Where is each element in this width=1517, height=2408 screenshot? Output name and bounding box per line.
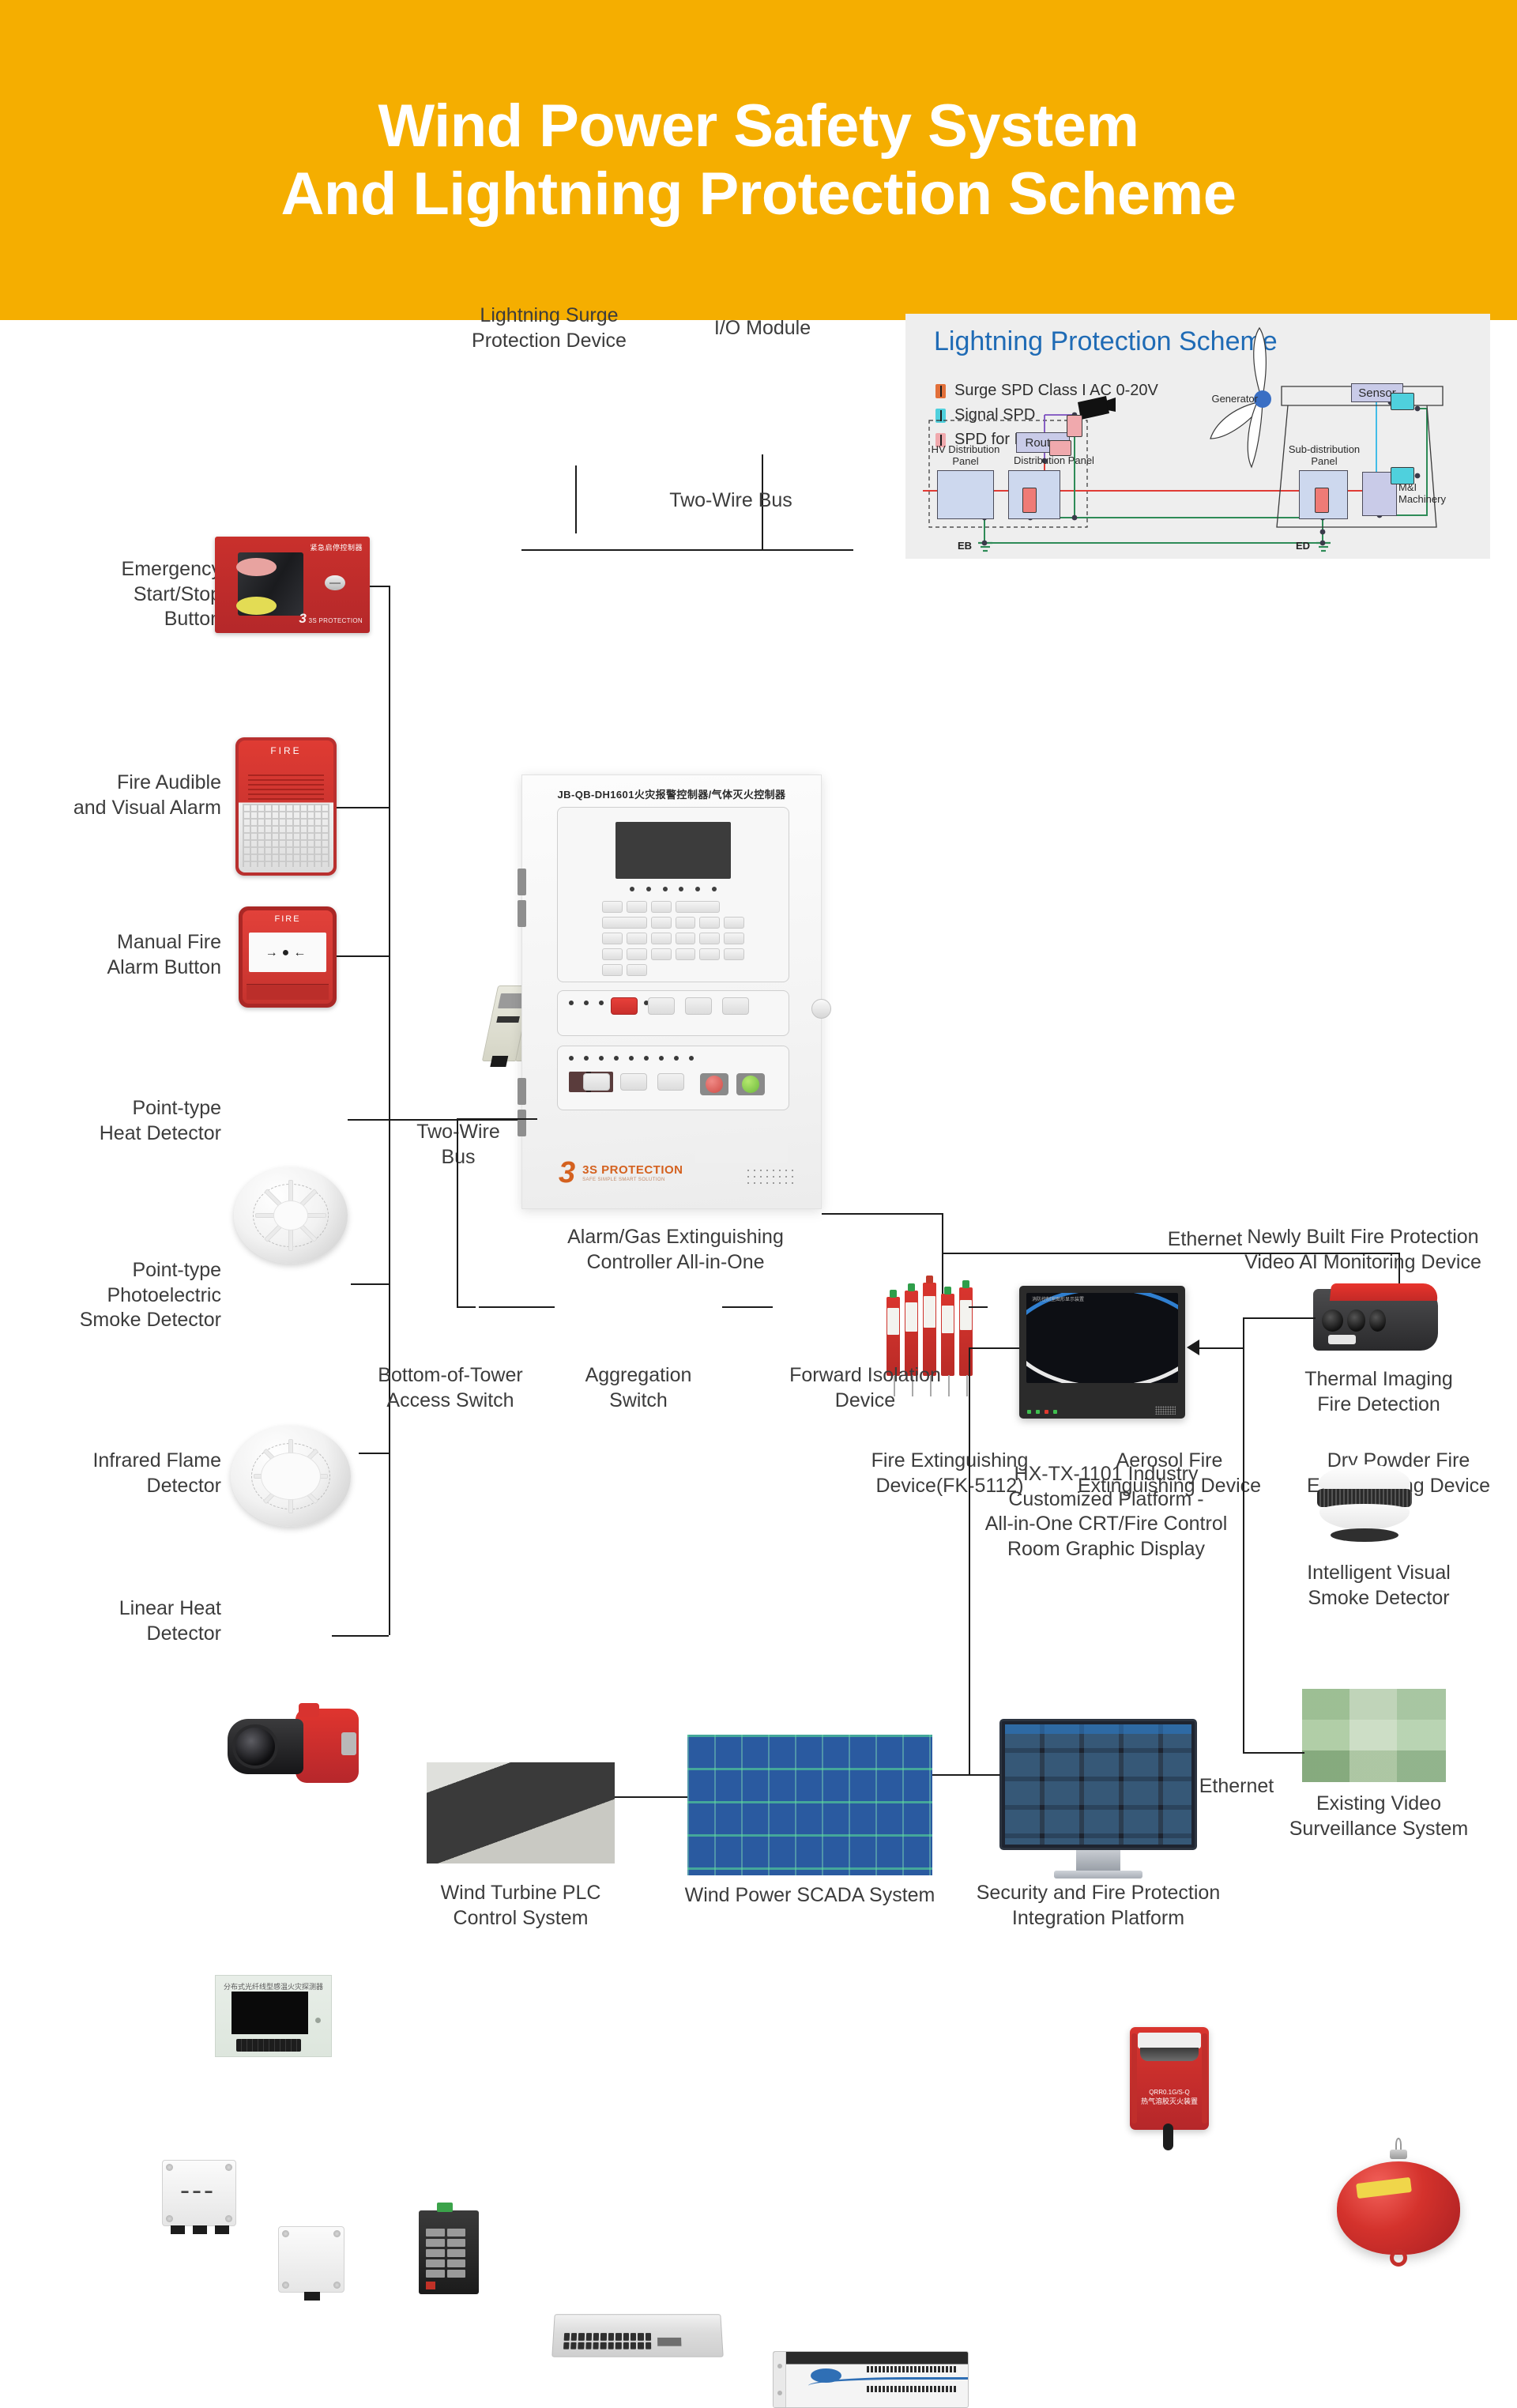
brand-name: 3S PROTECTION	[582, 1163, 683, 1177]
scada-screen[interactable]	[687, 1735, 932, 1875]
controller-to-extinguisher	[822, 1213, 942, 1215]
aerosol-top-plate	[1138, 2033, 1201, 2049]
fire-text: FIRE	[243, 914, 333, 924]
ball-warning-label	[1356, 2176, 1411, 2198]
platform-indicator-leds	[1027, 1410, 1057, 1414]
plc-cabinet-photo[interactable]	[427, 1762, 615, 1863]
video-feed-arrow-line	[1197, 1347, 1243, 1349]
aerosol-rib	[1202, 2033, 1207, 2123]
lightning-schematic	[905, 314, 1490, 559]
manual-auto-button[interactable]	[620, 1073, 647, 1091]
cabinet-hinge	[518, 1110, 526, 1136]
spd-lan-symbol-camera	[1067, 415, 1082, 437]
controller-keypad[interactable]	[602, 901, 744, 976]
lhd-screen	[232, 1992, 307, 2034]
aerosol-outlet	[1140, 2048, 1199, 2061]
controller-lower-buttons[interactable]	[583, 1073, 684, 1091]
dry-powder-ball[interactable]	[1337, 2161, 1460, 2255]
bus-branch-flame	[359, 1453, 389, 1454]
speaker-slats	[248, 774, 324, 801]
controller-lower-panel	[557, 1046, 789, 1110]
start-delay-button[interactable]	[583, 1073, 610, 1091]
label-forward-isolation-device: Forward Isolation Device	[766, 1363, 964, 1413]
monitor-base	[1054, 1871, 1142, 1879]
screw-icon	[333, 2230, 341, 2237]
switch-ports[interactable]	[563, 2333, 651, 2350]
aggregation-to-isolation	[722, 1306, 773, 1308]
thermal-branch	[1243, 1317, 1316, 1319]
stick-extinguisher-array[interactable]	[886, 1283, 973, 1376]
decor-stripe	[808, 2377, 968, 2391]
linear-heat-junction-box-2[interactable]	[278, 2226, 344, 2293]
call-point-body: FIRE →●←	[243, 910, 333, 1004]
label-wind-power-scada: Wind Power SCADA System	[664, 1883, 956, 1909]
cable-plug	[215, 2225, 229, 2234]
controller-to-switch-v	[457, 1118, 458, 1306]
surveillance-branch	[1243, 1752, 1304, 1754]
device-label-cn: 紧急启停控制器	[310, 542, 363, 552]
screw-icon	[282, 2282, 289, 2289]
label-two-wire-bus-left: Two-Wire Bus	[395, 1120, 521, 1170]
cabinet-hinge	[518, 1078, 526, 1105]
bus-branch-mcp	[337, 955, 389, 957]
video-feed-arrow-head	[1187, 1340, 1199, 1355]
label-hv-distribution-panel: HV Distribution Panel	[924, 443, 1007, 467]
screw-icon	[282, 2230, 289, 2237]
lightning-protection-panel: Lightning Protection Scheme Surge SPD Cl…	[905, 314, 1490, 559]
controller-upper-panel	[557, 807, 789, 982]
extinguisher-bus-riser	[942, 1213, 943, 1253]
silence-button[interactable]	[648, 997, 675, 1015]
switch-ports[interactable]	[426, 2229, 465, 2277]
detector-top-cover	[1319, 1464, 1410, 1492]
emergency-start-stop-controller[interactable]: 紧急启停控制器 3 3S PROTECTION	[215, 537, 370, 633]
strobe-lens	[243, 804, 329, 867]
power-terminal	[437, 2203, 453, 2212]
bus-branch-linear	[332, 1635, 389, 1637]
surge-spd-symbol-distribution	[1022, 488, 1037, 513]
flame-detector-lens	[235, 1728, 275, 1765]
aerosol-cable	[1163, 2123, 1173, 2150]
brand-mark-icon: 3	[559, 1161, 575, 1185]
emergency-stop-button[interactable]	[657, 1073, 684, 1091]
aerosol-model-text: QRR0.1G/S-Q 热气溶胶灭火装置	[1130, 2089, 1209, 2106]
call-point-window: →●←	[249, 933, 326, 972]
camera-lens	[1322, 1310, 1343, 1332]
detector-hub	[262, 1453, 320, 1499]
page-title-line-2: And Lightning Protection Scheme	[281, 160, 1237, 228]
controller-status-leds	[630, 887, 717, 891]
cable-plug	[193, 2225, 207, 2234]
controller-to-switch-h	[457, 1118, 537, 1120]
monitor-stand	[1076, 1850, 1120, 1871]
detector-sensor-face	[1331, 1528, 1398, 1542]
hv-distribution-panel-box	[937, 470, 994, 519]
label-ethernet-top: Ethernet	[1106, 1227, 1304, 1253]
press-arrows-icon: →●←	[249, 946, 326, 960]
platform-screen-caption: 消防控制室图形显示装置	[1032, 1295, 1084, 1302]
point-heat-detector[interactable]	[234, 1167, 348, 1264]
controller-lower-leds	[569, 1056, 694, 1061]
plc-to-scada	[615, 1796, 687, 1798]
label-emergency-start-stop: Emergency Start/Stop Button	[47, 557, 221, 632]
ground-label-ed: ED	[1296, 540, 1310, 552]
controller-mid-panel	[557, 990, 789, 1036]
test-button[interactable]	[685, 997, 712, 1015]
cable-gland	[341, 1732, 356, 1755]
spd-dropline	[575, 465, 577, 533]
diagram-canvas: Emergency Start/Stop Button Fire Audible…	[0, 320, 1517, 2078]
ball-hanger	[1388, 2138, 1409, 2163]
brand-mark: 3 3S PROTECTION	[299, 611, 363, 627]
detector-base-cover	[1319, 1504, 1409, 1530]
cable-plug	[171, 2225, 185, 2234]
access-to-aggregation	[479, 1306, 555, 1308]
video-wall-photo[interactable]	[1302, 1689, 1446, 1782]
bus-branch-heat	[348, 1119, 389, 1121]
cable-plug	[304, 2292, 320, 2301]
ground-label-eb: EB	[958, 540, 972, 552]
platform-speaker-grille	[1155, 1406, 1176, 1415]
page-title-line-1: Wind Power Safety System	[378, 92, 1139, 160]
emergency-stop-indicator[interactable]	[736, 1073, 765, 1095]
label-linear-heat-detector: Linear Heat Detector	[40, 1596, 221, 1646]
integration-platform-monitor[interactable]	[999, 1719, 1197, 1879]
signal-spd-symbol-sensor	[1391, 393, 1414, 410]
hx-tx-1101-platform[interactable]: 消防控制室图形显示装置	[1019, 1286, 1185, 1419]
isolation-to-platform-h	[969, 1306, 988, 1308]
signal-spd-symbol-machinery	[1391, 467, 1414, 484]
label-intelligent-visual-smoke-detector: Intelligent Visual Smoke Detector	[1264, 1561, 1493, 1611]
brand-tagline: SAFE SIMPLE SMART SOLUTION	[582, 1178, 683, 1182]
screw-icon	[166, 2164, 173, 2171]
label-lightning-surge-protection-device: Lightning Surge Protection Device	[446, 303, 652, 353]
infrared-flame-detector[interactable]	[228, 1703, 359, 1790]
visual-smoke-detector[interactable]	[1315, 1464, 1414, 1540]
label-controller-caption: Alarm/Gas Extinguishing Controller All-i…	[545, 1225, 806, 1275]
page-header: Wind Power Safety System And Lightning P…	[0, 0, 1517, 320]
bus-branch-smoke	[351, 1283, 389, 1285]
label-mi-machinery: M&I Machinery	[1398, 481, 1462, 505]
fire-sounder-strobe[interactable]: FIRE	[235, 737, 337, 876]
bus-branch-emergency	[370, 586, 389, 587]
thermal-imaging-camera[interactable]	[1313, 1289, 1438, 1351]
surge-spd-symbol-subdistribution	[1315, 488, 1329, 513]
right-column-trunk	[1243, 1317, 1244, 1752]
left-vertical-bus	[389, 586, 390, 1635]
cabinet-hinge	[518, 869, 526, 895]
alarm-gas-extinguishing-controller[interactable]: JB-QB-DH1601火灾报警控制器/气体灭火控制器	[521, 774, 822, 1209]
controller-rotary-dial[interactable]	[811, 999, 831, 1019]
label-point-heat-detector: Point-type Heat Detector	[40, 1096, 221, 1146]
monitor-screen	[1005, 1724, 1191, 1845]
flame-detector-mount	[299, 1703, 320, 1717]
aerosol-extinguisher[interactable]: QRR0.1G/S-Q 热气溶胶灭火装置	[1130, 2027, 1209, 2130]
controller-brand-logo: 3 3S PROTECTION SAFE SIMPLE SMART SOLUTI…	[559, 1161, 683, 1185]
device-label-cn: 分布式光纤线型感温火灾探测器	[216, 1981, 331, 1992]
label-generator: Generator	[1195, 393, 1258, 405]
camera-sunshield	[1330, 1283, 1439, 1301]
controller-display	[615, 822, 731, 879]
screw-icon	[225, 2215, 232, 2222]
sfp-slots[interactable]	[657, 2338, 681, 2346]
forward-isolation-device[interactable]	[773, 2351, 969, 2408]
call-point-base	[247, 984, 329, 1000]
label-aggregation-switch: Aggregation Switch	[553, 1363, 724, 1413]
monitor-bezel	[999, 1719, 1197, 1850]
aerosol-rib	[1131, 2033, 1137, 2123]
detector-hub	[274, 1201, 307, 1230]
industrial-access-switch[interactable]	[419, 2210, 479, 2294]
label-sub-distribution-panel: Sub-distribution Panel	[1277, 443, 1372, 467]
switch-uplink	[457, 1306, 476, 1308]
isolation-to-crt	[969, 1347, 1019, 1349]
reset-button[interactable]	[611, 997, 638, 1015]
rack-ear	[774, 2352, 786, 2407]
camera-ir-illuminator	[1328, 1335, 1356, 1344]
lhd-keypad[interactable]	[236, 2039, 301, 2052]
label-io-module: I/O Module	[676, 316, 849, 341]
rack-aggregation-switch[interactable]	[551, 2314, 724, 2357]
label-bottom-of-tower-access-switch: Bottom-of-Tower Access Switch	[363, 1363, 537, 1413]
stop-button[interactable]	[236, 597, 277, 615]
manual-call-point[interactable]: FIRE →●←	[239, 906, 337, 1008]
label-hx-tx-1101-platform: HX-TX-1101 Industry Customized Platform …	[984, 1462, 1229, 1562]
port-bank-top[interactable]	[867, 2366, 956, 2372]
controller-speaker-grille	[745, 1167, 794, 1186]
screw-icon	[333, 2282, 341, 2289]
linear-heat-junction-box-1[interactable]: ▬▬▬	[162, 2160, 236, 2226]
controller-mid-buttons[interactable]	[611, 997, 749, 1015]
top-bus-line	[521, 549, 853, 551]
point-smoke-detector[interactable]	[231, 1426, 351, 1527]
bus-branch-sounder	[337, 807, 389, 808]
label-fire-audible-visual-alarm: Fire Audible and Visual Alarm	[24, 771, 221, 820]
label-wind-turbine-plc: Wind Turbine PLC Control System	[417, 1881, 624, 1931]
platform-link-h	[969, 1774, 1000, 1776]
label-point-smoke-detector: Point-type Photoelectric Smoke Detector	[24, 1258, 221, 1333]
start-button[interactable]	[236, 558, 277, 576]
camera-thermal-lens	[1347, 1310, 1366, 1332]
screw-icon	[225, 2164, 232, 2171]
emergency-start-indicator[interactable]	[700, 1073, 728, 1095]
platform-link-v	[969, 1347, 970, 1774]
spd-lan-symbol-router	[1049, 440, 1071, 456]
label-manual-fire-alarm-button: Manual Fire Alarm Button	[40, 930, 221, 980]
status-strip	[426, 2282, 435, 2289]
ball-ring	[1390, 2249, 1407, 2267]
scada-to-platform	[932, 1774, 969, 1776]
stick-extinguisher[interactable]	[923, 1283, 936, 1376]
controller-warning-label	[695, 1137, 788, 1163]
confirm-button[interactable]	[722, 997, 749, 1015]
label-distribution-panel: Distribution Panel	[999, 454, 1109, 466]
lhd-indicator	[315, 2018, 321, 2023]
label-two-wire-bus-top: Two-Wire Bus	[632, 488, 830, 514]
sounder-body: FIRE	[239, 740, 333, 872]
linear-heat-detector[interactable]: 分布式光纤线型感温火灾探测器	[215, 1975, 332, 2057]
label-security-fire-integration-platform: Security and Fire Protection Integration…	[948, 1881, 1248, 1931]
jbox-leds: ▬▬▬	[163, 2187, 235, 2195]
label-infrared-flame-detector: Infrared Flame Detector	[16, 1449, 221, 1498]
camera-aux-lens	[1369, 1310, 1386, 1332]
screw-icon	[166, 2215, 173, 2222]
controller-model-text: JB-QB-DH1601火灾报警控制器/气体灭火控制器	[522, 786, 821, 801]
cabinet-hinge	[518, 900, 526, 927]
platform-screen: 消防控制室图形显示装置	[1026, 1293, 1178, 1383]
label-thermal-imaging-fire-detection: Thermal Imaging Fire Detection	[1272, 1367, 1485, 1417]
fire-text: FIRE	[239, 745, 333, 756]
key-switch[interactable]	[325, 575, 344, 591]
